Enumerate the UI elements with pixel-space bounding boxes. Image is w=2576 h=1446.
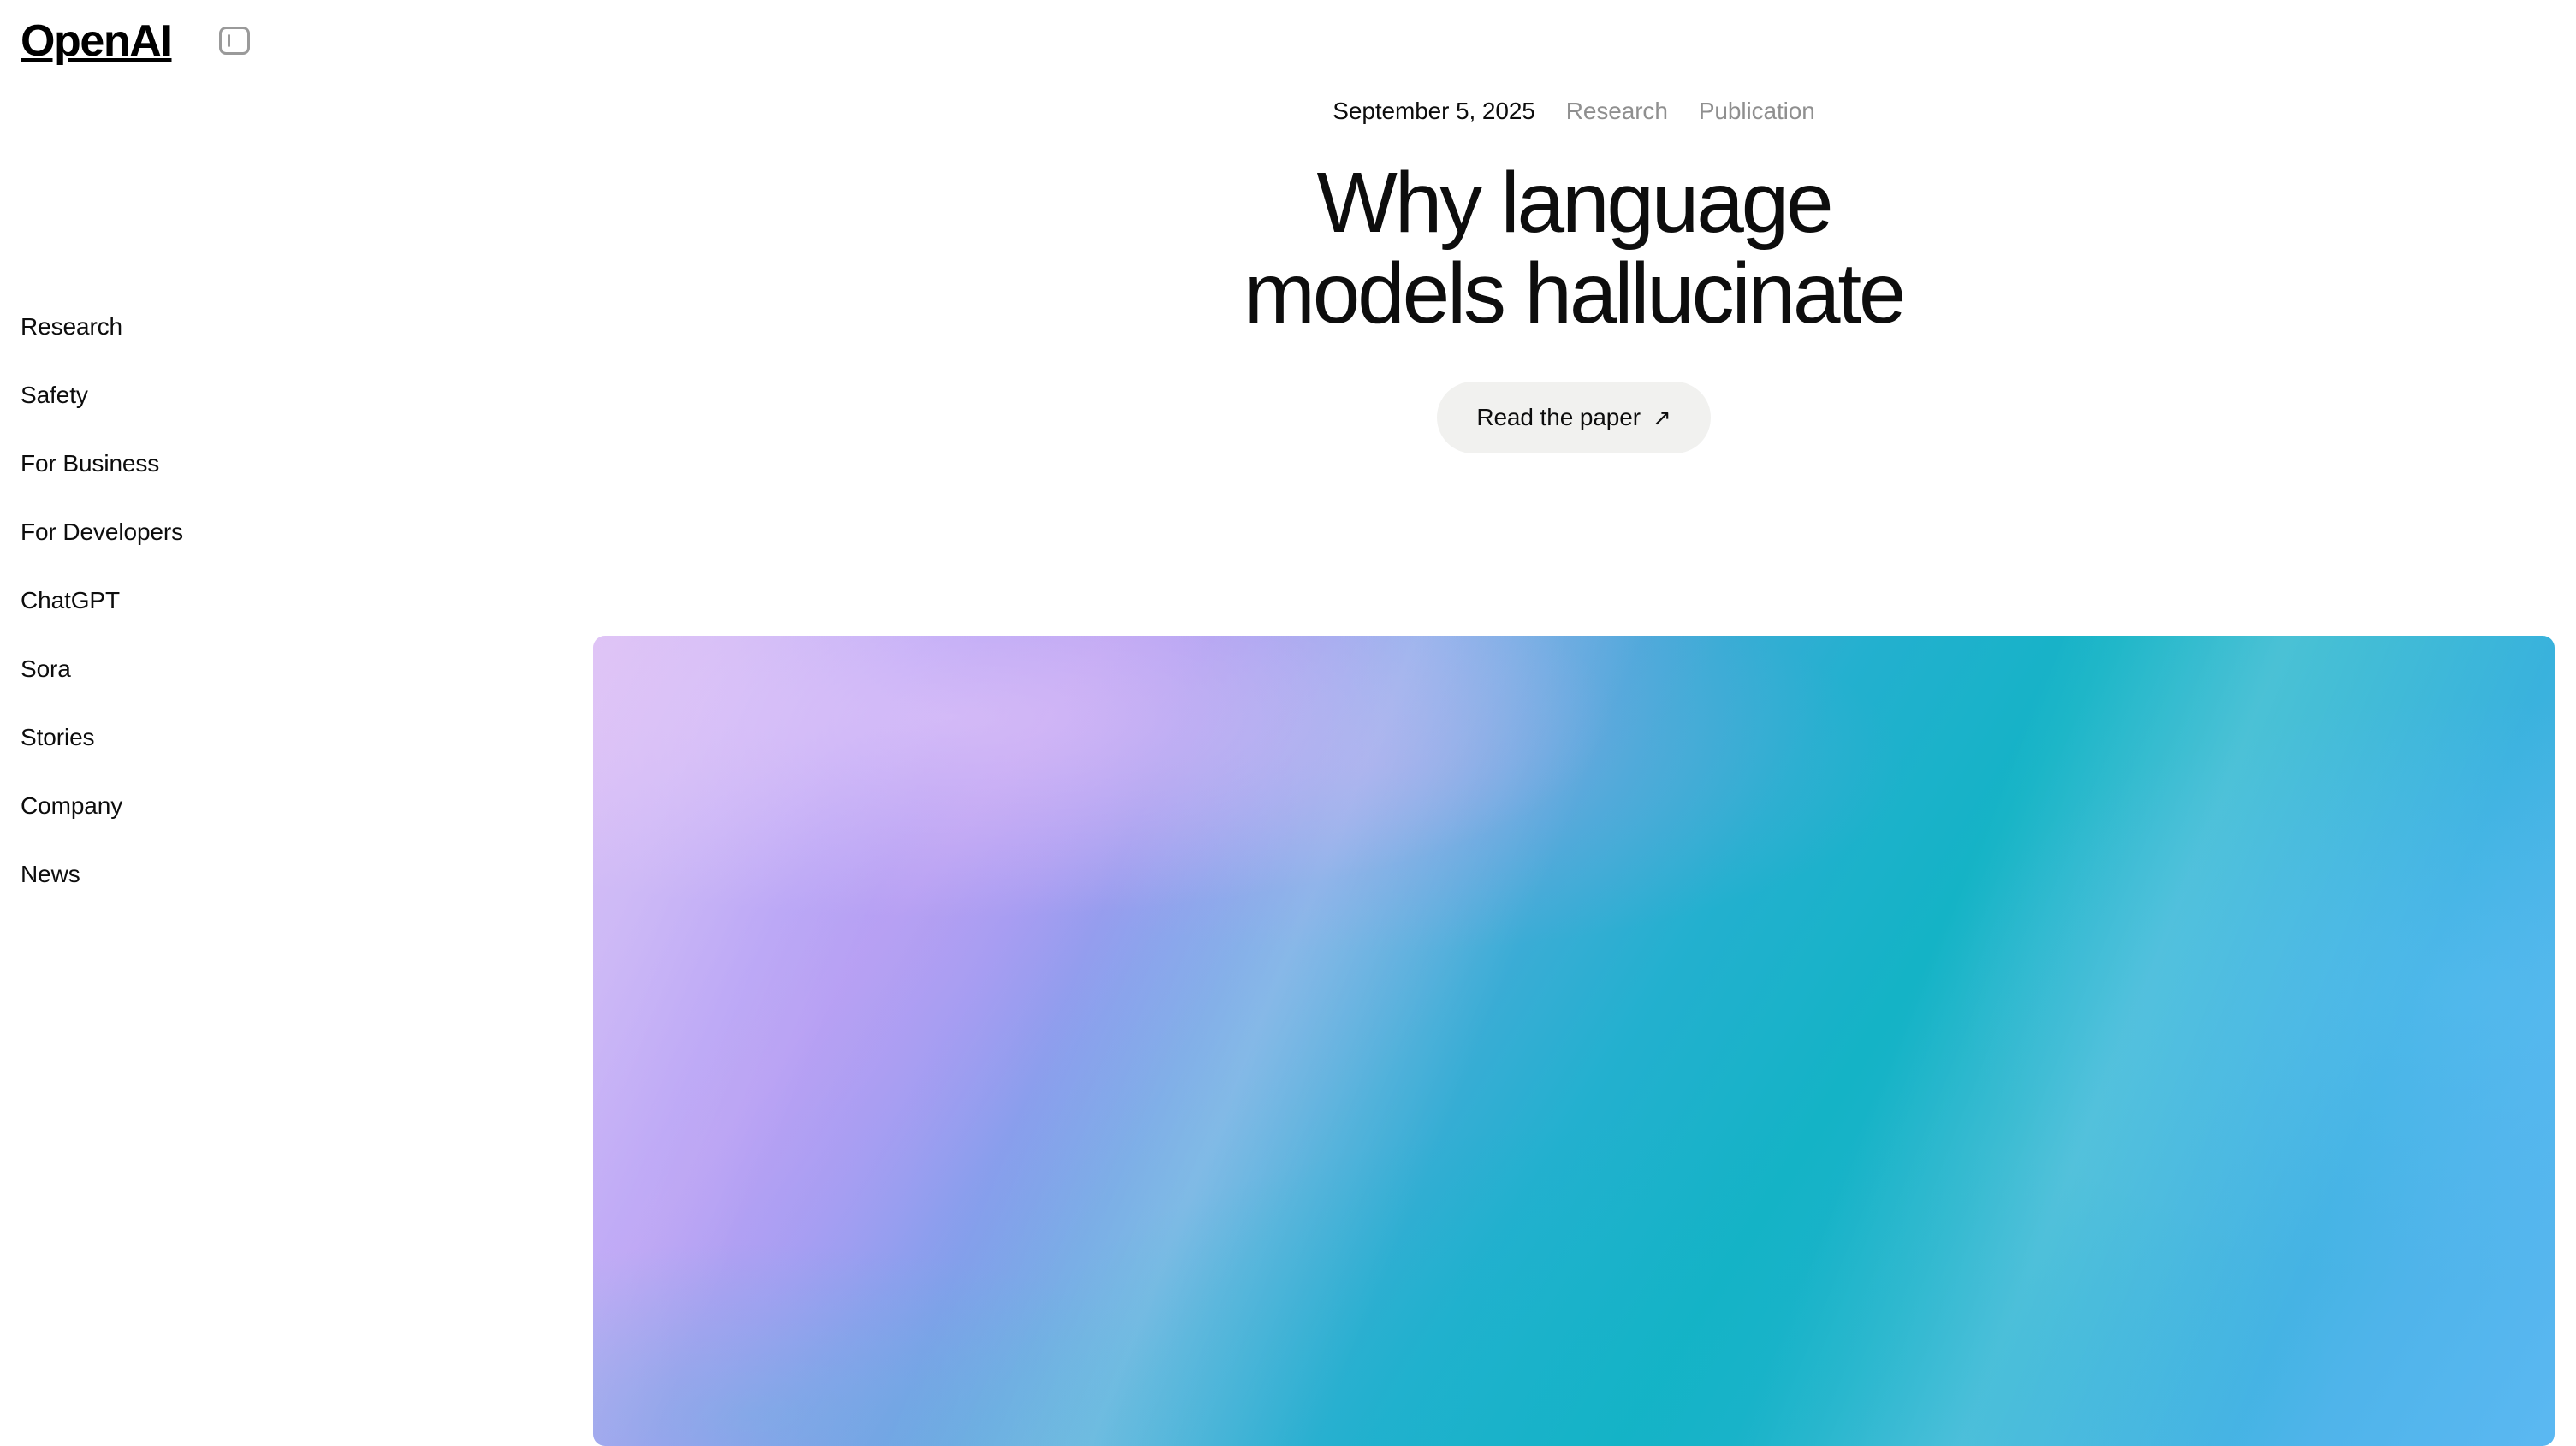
publish-date: September 5, 2025 xyxy=(1333,98,1534,125)
sidebar-item-for-developers[interactable]: For Developers xyxy=(0,513,548,582)
sidebar-item-research[interactable]: Research xyxy=(0,308,548,376)
sidebar-item-for-business[interactable]: For Business xyxy=(0,445,548,513)
hero-gradient-image xyxy=(593,636,2555,1446)
category-tag-publication[interactable]: Publication xyxy=(1699,98,1815,125)
cta-row: Read the paper ↗ xyxy=(593,382,2555,453)
sidebar-item-safety[interactable]: Safety xyxy=(0,376,548,445)
sidebar-item-company[interactable]: Company xyxy=(0,787,548,856)
sidebar-item-sora[interactable]: Sora xyxy=(0,650,548,719)
read-the-paper-button[interactable]: Read the paper ↗ xyxy=(1437,382,1710,453)
category-tag-research[interactable]: Research xyxy=(1566,98,1668,125)
openai-logo[interactable]: OpenAI xyxy=(21,19,172,63)
sidebar-nav: Research Safety For Business For Develop… xyxy=(0,308,548,924)
article-meta: September 5, 2025 Research Publication xyxy=(593,98,2555,125)
page-title-line-2: models hallucinate xyxy=(593,248,2555,339)
article-header: September 5, 2025 Research Publication W… xyxy=(593,0,2555,453)
sidebar-panel-icon[interactable] xyxy=(219,27,250,55)
sidebar-item-stories[interactable]: Stories xyxy=(0,719,548,787)
page-title: Why language models hallucinate xyxy=(593,157,2555,339)
page-title-line-1: Why language xyxy=(593,157,2555,248)
sidebar-item-chatgpt[interactable]: ChatGPT xyxy=(0,582,548,650)
arrow-up-right-icon: ↗ xyxy=(1653,406,1671,429)
read-the-paper-label: Read the paper xyxy=(1476,404,1641,431)
sidebar-item-news[interactable]: News xyxy=(0,856,548,924)
